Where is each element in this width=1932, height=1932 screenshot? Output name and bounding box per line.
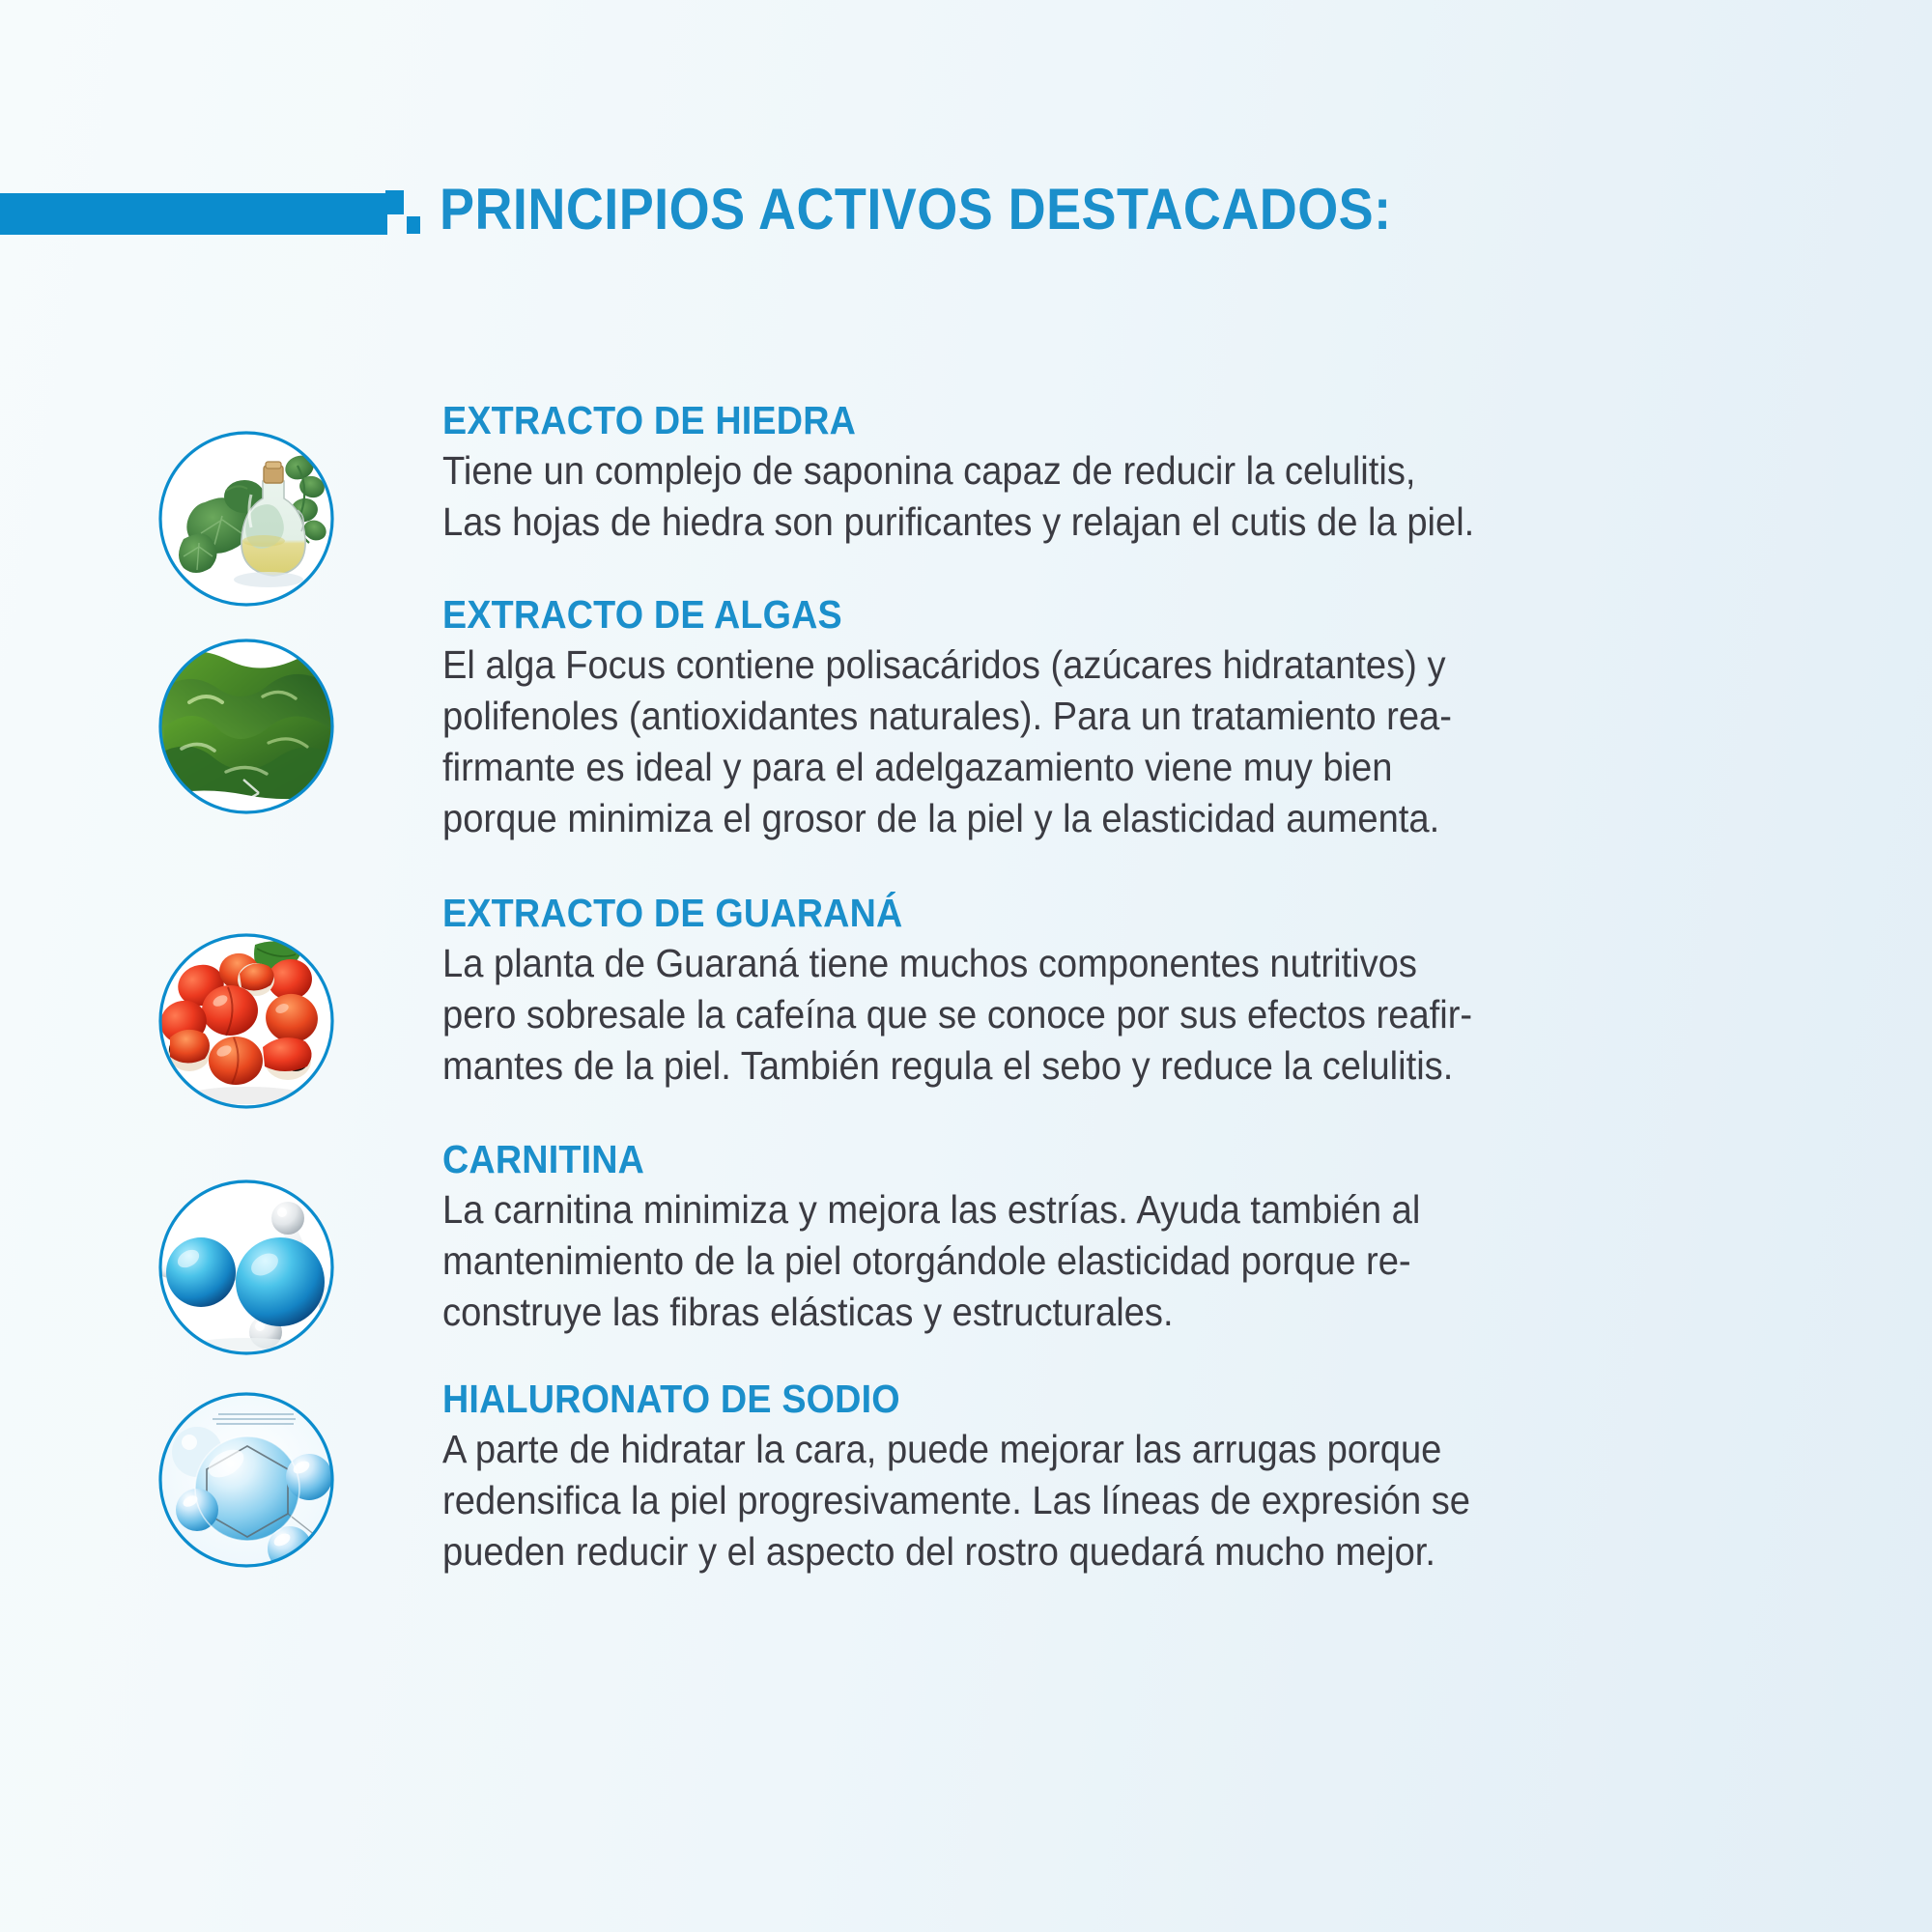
section-line: La planta de Guaraná tiene muchos compon… (442, 938, 1646, 989)
page-title: PRINCIPIOS ACTIVOS DESTACADOS: (440, 176, 1392, 242)
section-line: polifenoles (antioxidantes naturales). P… (442, 691, 1646, 742)
hyaluronic-molecule-icon (155, 1388, 338, 1572)
header-accent-dot (407, 216, 420, 234)
section-line: A parte de hidratar la cara, puede mejor… (442, 1424, 1646, 1475)
header-accent-bar (0, 193, 387, 235)
section-line: construye las fibras elásticas y estruct… (442, 1287, 1646, 1338)
section-title: HIALURONATO DE SODIO (442, 1377, 1634, 1422)
section-line: mantes de la piel. También regula el seb… (442, 1040, 1646, 1092)
section-text: HIALURONATO DE SODIO A parte de hidratar… (442, 1377, 1737, 1577)
section-title: CARNITINA (442, 1137, 1634, 1182)
section-line: pueden reducir y el aspecto del rostro q… (442, 1526, 1646, 1577)
section-text: EXTRACTO DE HIEDRA Tiene un complejo de … (442, 398, 1737, 548)
section-text: EXTRACTO DE GUARANÁ La planta de Guaraná… (442, 891, 1737, 1092)
section-text: EXTRACTO DE ALGAS El alga Focus contiene… (442, 592, 1737, 844)
guarana-fruit-icon (155, 929, 338, 1113)
header-accent-block (385, 190, 404, 214)
section-line: pero sobresale la cafeína que se conoce … (442, 989, 1646, 1040)
section-title: EXTRACTO DE ALGAS (442, 592, 1634, 638)
section-line: redensifica la piel progresivamente. Las… (442, 1475, 1646, 1526)
section-line: firmante es ideal y para el adelgazamien… (442, 742, 1646, 793)
section-line: mantenimiento de la piel otorgándole ela… (442, 1236, 1646, 1287)
section-line: porque minimiza el grosor de la piel y l… (442, 793, 1646, 844)
seaweed-algae-icon (155, 635, 338, 818)
section-title: EXTRACTO DE HIEDRA (442, 398, 1634, 443)
page-header: PRINCIPIOS ACTIVOS DESTACADOS: (0, 180, 1932, 247)
section-text: CARNITINA La carnitina minimiza y mejora… (442, 1137, 1737, 1338)
section-line: Las hojas de hiedra son purificantes y r… (442, 497, 1646, 548)
section-title: EXTRACTO DE GUARANÁ (442, 891, 1634, 936)
section-line: Tiene un complejo de saponina capaz de r… (442, 445, 1646, 497)
ivy-oil-bottle-icon (155, 427, 338, 611)
section-line: La carnitina minimiza y mejora las estrí… (442, 1184, 1646, 1236)
section-line: El alga Focus contiene polisacáridos (az… (442, 639, 1646, 691)
molecule-model-icon (155, 1176, 338, 1359)
